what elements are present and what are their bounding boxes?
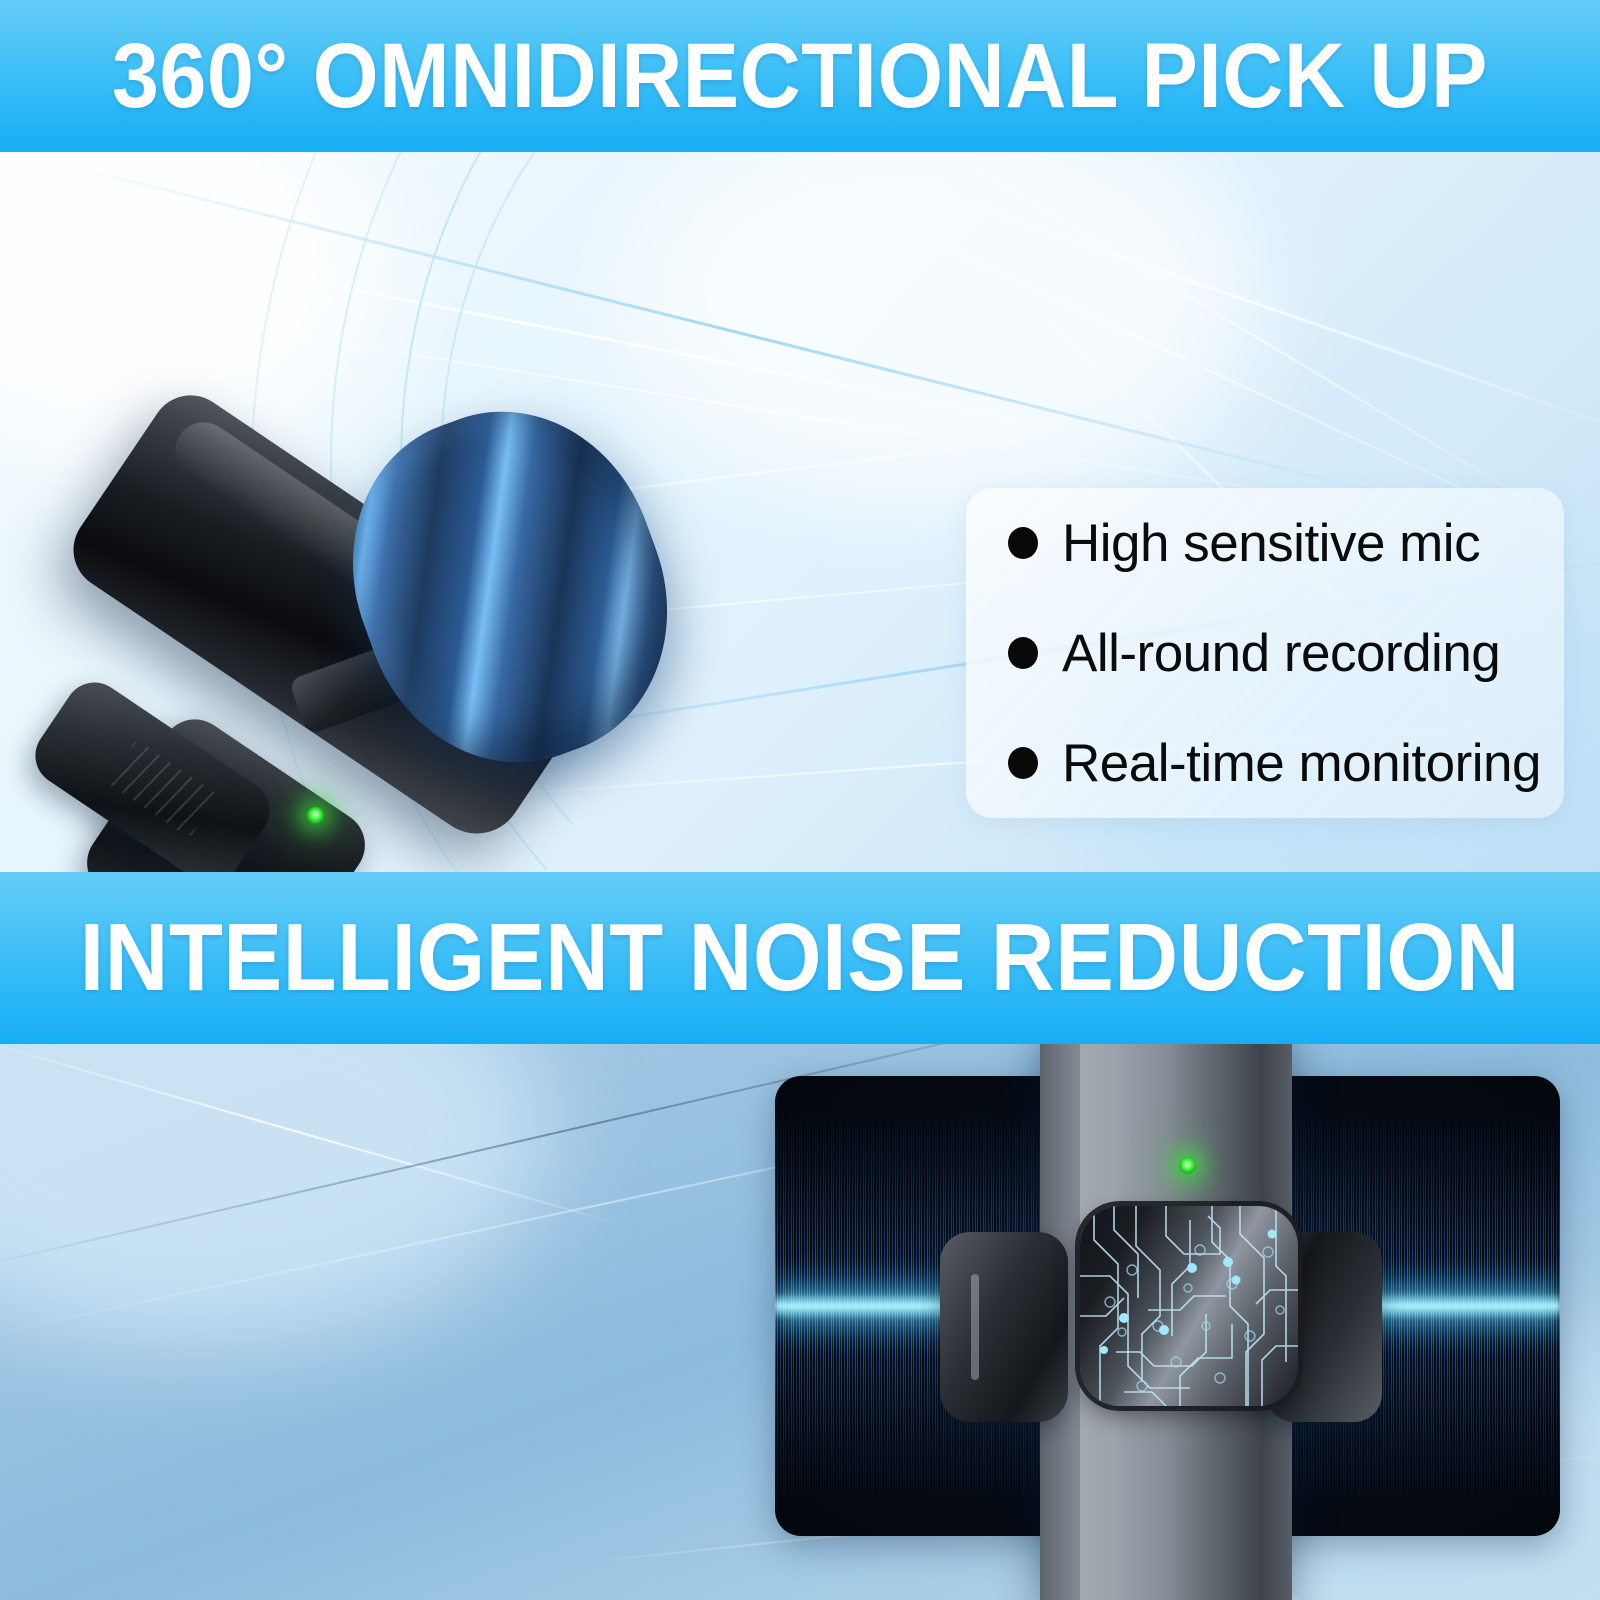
bullet-dot-icon [1008, 747, 1038, 779]
top-product-scene: High sensitive mic All-round recording R… [0, 152, 1600, 874]
bullet-dot-icon [1008, 637, 1038, 669]
feature-item: All-round recording [1008, 598, 1564, 708]
feature-item: High sensitive mic [1008, 488, 1564, 598]
clip-groove [971, 1274, 979, 1380]
mic-clip-left [940, 1232, 1068, 1422]
feature-label: High sensitive mic [1062, 517, 1480, 570]
clip-grooves [108, 740, 219, 838]
background-haze [0, 1044, 550, 1344]
product-feature-image: 360° OMNIDIRECTIONAL PICK UP [0, 0, 1600, 1600]
top-feature-card: High sensitive mic All-round recording R… [966, 488, 1564, 818]
bullet-dot-icon [1008, 527, 1038, 559]
feature-label: Real-time monitoring [1062, 737, 1541, 790]
microphone-body-closeup [1040, 1044, 1292, 1600]
lavalier-microphone [40, 402, 760, 874]
top-banner: 360° OMNIDIRECTIONAL PICK UP [0, 0, 1600, 152]
status-led-icon [307, 807, 324, 824]
middle-banner-title: INTELLIGENT NOISE REDUCTION [80, 910, 1520, 1006]
bottom-product-scene: Crystal clear sound High density sponge … [0, 1044, 1600, 1600]
circuit-traces-icon [1080, 1206, 1298, 1406]
circuit-board-chip-window [1080, 1206, 1298, 1406]
feature-label: All-round recording [1062, 627, 1500, 680]
top-banner-title: 360° OMNIDIRECTIONAL PICK UP [112, 30, 1488, 122]
middle-banner: INTELLIGENT NOISE REDUCTION [0, 872, 1600, 1044]
feature-item: Real-time monitoring [1008, 708, 1564, 818]
status-led-icon [1179, 1157, 1196, 1174]
